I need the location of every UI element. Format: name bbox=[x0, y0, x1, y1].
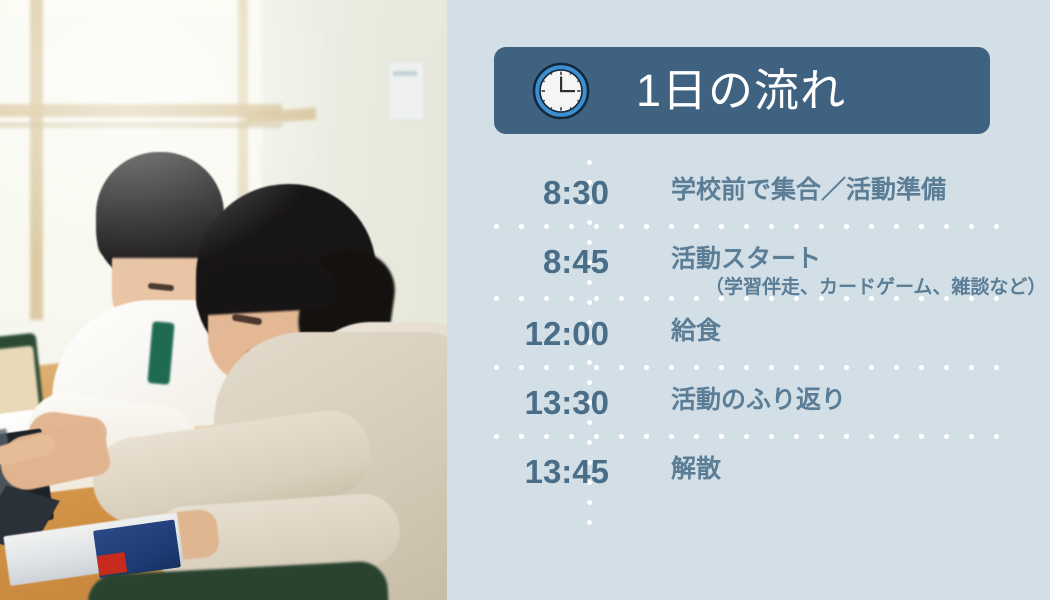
schedule-description: 活動スタート （学習伴走、カードゲーム、雑談など） bbox=[639, 229, 1046, 301]
schedule-description-main: 解散 bbox=[671, 453, 1010, 485]
photo-window-bar-horizontal bbox=[0, 104, 282, 117]
photo-book-red-tag bbox=[97, 552, 128, 576]
photo-window-bar-horizontal-2 bbox=[0, 122, 282, 128]
clock-icon bbox=[532, 62, 590, 120]
schedule-description: 解散 bbox=[639, 439, 1010, 485]
photo-window-bar-vertical bbox=[30, 0, 43, 320]
schedule-header-banner: 1日の流れ bbox=[494, 47, 990, 134]
schedule-row[interactable]: 13:45 解散 bbox=[494, 439, 1010, 508]
schedule-row[interactable]: 12:00 給食 bbox=[494, 301, 1010, 370]
classroom-photo bbox=[0, 0, 447, 600]
slide-root: 1日の流れ 8:30 学校前で集合／活動準備 8:45 活動スタート （学習伴走… bbox=[0, 0, 1050, 600]
schedule-time: 12:00 bbox=[494, 301, 639, 350]
schedule-description-main: 活動のふり返り bbox=[671, 384, 1010, 416]
schedule-row[interactable]: 8:30 学校前で集合／活動準備 bbox=[494, 160, 1010, 229]
page-title: 1日の流れ bbox=[636, 68, 846, 113]
schedule-description: 活動のふり返り bbox=[639, 370, 1010, 416]
schedule-time: 8:45 bbox=[494, 229, 639, 278]
schedule-time: 13:45 bbox=[494, 439, 639, 488]
schedule-description-main: 給食 bbox=[671, 315, 1010, 347]
schedule-description: 給食 bbox=[639, 301, 1010, 347]
schedule-row[interactable]: 8:45 活動スタート （学習伴走、カードゲーム、雑談など） bbox=[494, 229, 1010, 301]
schedule-description: 学校前で集合／活動準備 bbox=[639, 160, 1010, 206]
schedule-time: 8:30 bbox=[494, 160, 639, 209]
photo-wall-notice bbox=[388, 62, 424, 120]
schedule-list: 8:30 学校前で集合／活動準備 8:45 活動スタート （学習伴走、カードゲー… bbox=[494, 160, 1010, 508]
schedule-time: 13:30 bbox=[494, 370, 639, 419]
schedule-description-main: 活動スタート bbox=[671, 243, 1046, 275]
schedule-row[interactable]: 13:30 活動のふり返り bbox=[494, 370, 1010, 439]
schedule-description-main: 学校前で集合／活動準備 bbox=[671, 174, 1010, 206]
schedule-panel: 1日の流れ 8:30 学校前で集合／活動準備 8:45 活動スタート （学習伴走… bbox=[447, 0, 1050, 600]
